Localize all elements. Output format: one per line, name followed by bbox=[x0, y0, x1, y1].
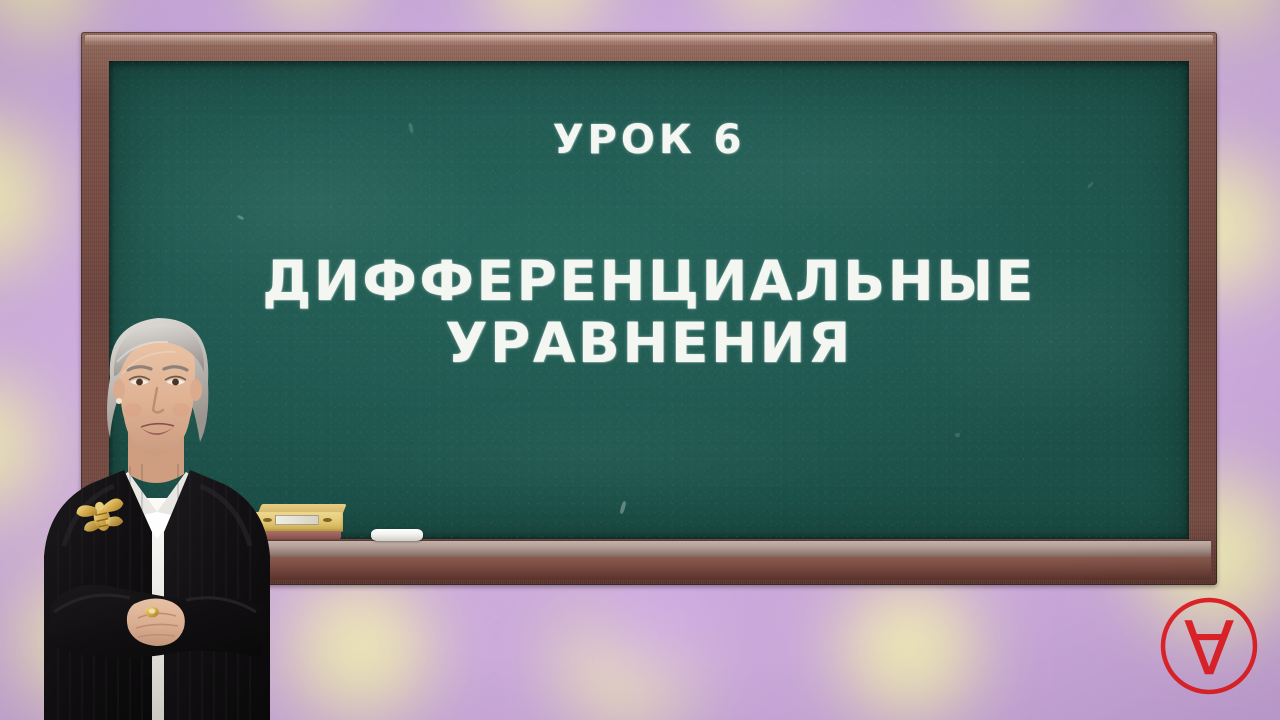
universal-quantifier-logo: A bbox=[1157, 594, 1261, 698]
chalk-fleck bbox=[955, 433, 960, 437]
chalk-fleck bbox=[619, 501, 626, 515]
lesson-title-line-1: ДИФФЕРЕНЦИАЛЬНЫЕ bbox=[262, 249, 1035, 313]
chalk-fleck bbox=[237, 215, 245, 221]
title-card-scene: УРОК 6 ДИФФЕРЕНЦИАЛЬНЫЕ УРАВНЕНИЯ bbox=[0, 0, 1280, 720]
presenter-teacher bbox=[18, 306, 288, 720]
chalk-stick bbox=[371, 529, 423, 541]
lesson-number-label: УРОК 6 bbox=[109, 117, 1189, 163]
cardigan-right bbox=[164, 470, 270, 720]
gold-ring bbox=[145, 607, 159, 618]
chalk-fleck bbox=[1087, 181, 1094, 189]
eraser-hole bbox=[323, 518, 332, 522]
logo-glyph: A bbox=[1183, 602, 1234, 688]
chalk-fleck bbox=[408, 123, 414, 134]
